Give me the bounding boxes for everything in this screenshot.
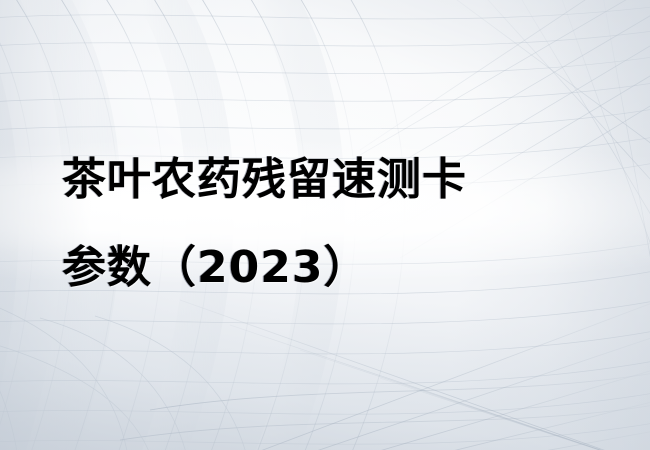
title-block: 茶叶农药残留速测卡 参数（2023） — [62, 136, 582, 312]
title-line-primary: 茶叶农药残留速测卡 — [62, 136, 582, 224]
diagonal-crosshatch-lower-right — [120, 300, 650, 450]
product-title-banner: 茶叶农药残留速测卡 参数（2023） — [0, 0, 650, 450]
curved-lines-lower-left — [0, 300, 250, 450]
title-line-secondary: 参数（2023） — [62, 224, 582, 312]
